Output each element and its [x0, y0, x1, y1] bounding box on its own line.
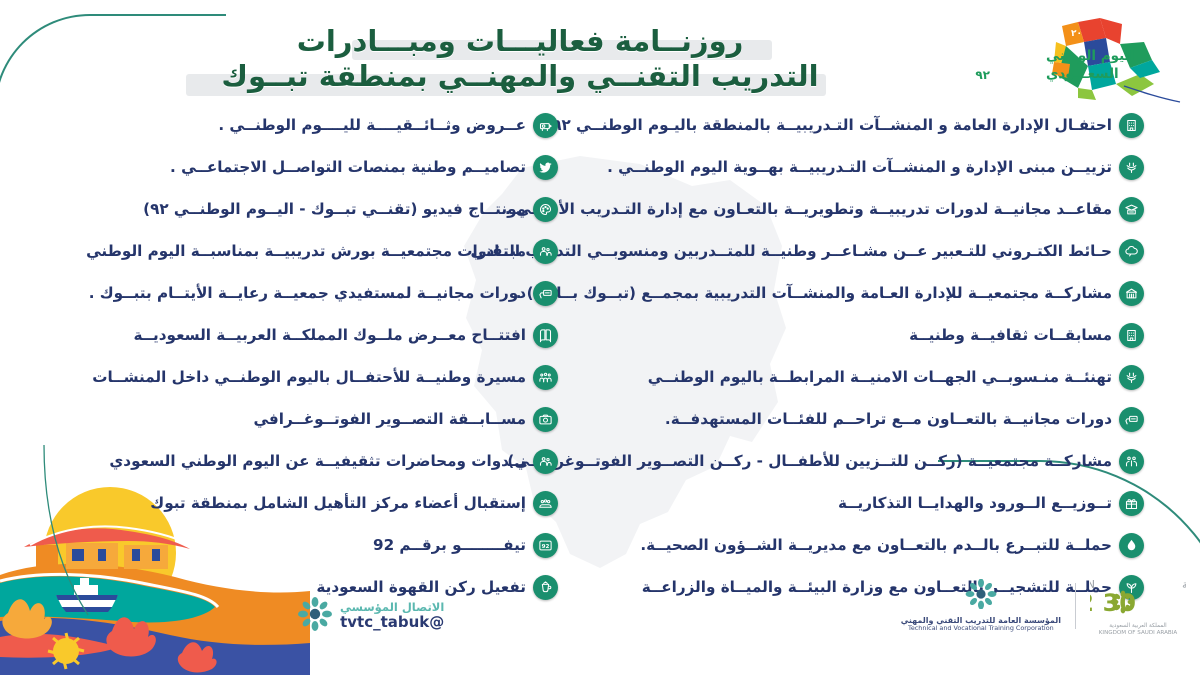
blood-drop-icon	[1119, 533, 1144, 558]
list-item-label: مشاركــة مجتمعيــة (ركــن للتــزيين للأط…	[507, 452, 1112, 471]
list-item: دورات مجانيــة لمستفيدي جمعيــة رعايــة …	[178, 276, 558, 310]
list-item-label: افتتــاح معــرض ملــوك المملكــة العربيـ…	[133, 326, 526, 345]
list-item: حملــة للتبــرع بالــدم بالتعــاون مع مد…	[624, 528, 1144, 562]
list-item: تصاميــم وطنية بمنصات التواصــل الاجتماع…	[178, 150, 558, 184]
crowd-icon	[533, 365, 558, 390]
list-item-label: نــدوات ومحاضرات تثقيفيــة عن اليوم الوط…	[109, 452, 526, 471]
list-item: مسيرة وطنيــة للأحتفــال باليوم الوطنــي…	[178, 360, 558, 394]
infographic-poster: روزنــامة فعاليـــات ومبـــادرات التدريب…	[0, 0, 1200, 675]
list-item-label: حملــة للتبــرع بالــدم بالتعــاون مع مد…	[640, 536, 1112, 555]
list-item: مســابــقة التصــوير الفوتــوغــرافي	[178, 402, 558, 436]
list-item-label: مسابقــات ثقافيــة وطنيــة	[909, 326, 1112, 345]
list-item: حـائط الكتـروني للتـعبير عــن مشـاعــر و…	[624, 234, 1144, 268]
palette-icon	[533, 197, 558, 222]
page-title: روزنــامة فعاليـــات ومبـــادرات التدريب…	[150, 24, 890, 94]
building-icon	[1119, 323, 1144, 348]
tvtc-star-icon	[961, 579, 1001, 613]
corporate-communication-handle[interactable]: الاتصال المؤسسي @tvtc_tabuk	[298, 597, 444, 635]
list-item: نــدوات ومحاضرات تثقيفيــة عن اليوم الوط…	[178, 444, 558, 478]
list-item-label: تزييــن مبنى الإدارة و المنشــآت التـدري…	[607, 158, 1112, 177]
tvtc-english-name: Technical and Vocational Training Corpor…	[901, 625, 1061, 633]
ticket-hand-icon	[1119, 407, 1144, 432]
list-item-label: مقاعــد مجانيــة لدورات تدريبيــة وتطوير…	[505, 200, 1112, 219]
svg-text:٢٠: ٢٠	[1071, 29, 1082, 39]
svg-text:رؤيـــة: رؤيـــة	[1182, 578, 1186, 591]
list-item: مبــادرات مجتمعيــة بورش تدريبيــة بمناس…	[178, 234, 558, 268]
list-item-label: تفعيل ركن القهوة السعودية	[316, 578, 526, 597]
list-item-label: مســابــقة التصــوير الفوتــوغــرافي	[253, 410, 526, 429]
title-line-2: التدريب التقنــي والمهنــي بمنطقة تبــوك	[150, 58, 890, 94]
svg-text:اليوم الوطني: اليوم الوطني	[1046, 48, 1134, 64]
list-item: تهنئــة منـسوبــي الجهــات الامنيــة الم…	[624, 360, 1144, 394]
building-icon	[1119, 113, 1144, 138]
list-item-label: تــوزيــع الــورود والهدايــا التذكاريــ…	[838, 494, 1112, 513]
saudi-emblem-icon	[1119, 155, 1144, 180]
group-icon	[533, 239, 558, 264]
list-item-label: تهنئــة منـسوبــي الجهــات الامنيــة الم…	[648, 368, 1112, 387]
title-line-1: روزنــامة فعاليـــات ومبـــادرات	[150, 24, 890, 58]
list-item-label: عــروض وثــائــقيــــة لليــــوم الوطنــ…	[218, 116, 526, 135]
classroom-icon	[1119, 197, 1144, 222]
coffee-pot-icon	[533, 575, 558, 600]
footer-divider	[1075, 583, 1076, 629]
svg-text:2: 2	[1090, 589, 1094, 617]
list-item: عــروض وثــائــقيــــة لليــــوم الوطنــ…	[178, 108, 558, 142]
number-92-icon: 92	[533, 533, 558, 558]
events-column-right: احتفـال الإدارة العامة و المنشــآت التـد…	[624, 108, 1144, 612]
list-item: 92تيفــــــــو برقــم 92	[178, 528, 558, 562]
list-item: تــوزيــع الــورود والهدايــا التذكاريــ…	[624, 486, 1144, 520]
speech-cloud-icon	[1119, 239, 1144, 264]
events-lists: احتفـال الإدارة العامة و المنشــآت التـد…	[0, 108, 1200, 558]
footer-logos: المؤسسة العامة للتدريب التقني والمهني Te…	[901, 575, 1186, 637]
list-item-label: مسيرة وطنيــة للأحتفــال باليوم الوطنــي…	[92, 368, 526, 387]
people-icon	[533, 491, 558, 516]
events-column-left: عــروض وثــائــقيــــة لليــــوم الوطنــ…	[178, 108, 558, 612]
list-item: مشاركــة مجتمعيــة (ركــن للتــزيين للأط…	[624, 444, 1144, 478]
list-item: احتفـال الإدارة العامة و المنشــآت التـد…	[624, 108, 1144, 142]
list-item: تزييــن مبنى الإدارة و المنشــآت التـدري…	[624, 150, 1144, 184]
camera-icon	[533, 407, 558, 432]
list-item-label: مونتــاج فيديو (تقنــي تبــوك - اليــوم …	[143, 200, 526, 219]
list-item-label: مبــادرات مجتمعيــة بورش تدريبيــة بمناس…	[86, 242, 526, 261]
ticket-hand-icon	[533, 281, 558, 306]
list-item: مشاركــة مجتمعيــة للإدارة العـامة والمن…	[624, 276, 1144, 310]
list-item: مقاعــد مجانيــة لدورات تدريبيــة وتطوير…	[624, 192, 1144, 226]
list-item: مسابقــات ثقافيــة وطنيــة	[624, 318, 1144, 352]
community-booth-icon	[1119, 449, 1144, 474]
book-icon	[533, 323, 558, 348]
list-item: افتتــاح معــرض ملــوك المملكــة العربيـ…	[178, 318, 558, 352]
list-item-label: احتفـال الإدارة العامة و المنشــآت التـد…	[541, 116, 1112, 135]
gift-icon	[1119, 491, 1144, 516]
list-item-label: حـائط الكتـروني للتـعبير عــن مشـاعــر و…	[470, 242, 1112, 261]
twitter-bird-icon	[533, 155, 558, 180]
list-item-label: إستقبال أعضاء مركز التأهيل الشامل بمنطقة…	[150, 494, 526, 513]
list-item: إستقبال أعضاء مركز التأهيل الشامل بمنطقة…	[178, 486, 558, 520]
projector-icon	[533, 113, 558, 138]
list-item: دورات مجانيــة بالتعــاون مــع تراحــم ل…	[624, 402, 1144, 436]
saudi-national-day-92-logo: ٢٠ اليوم الوطني السعـــودي ٩٢	[974, 12, 1186, 104]
saudi-emblem-icon	[1119, 365, 1144, 390]
list-item-label: دورات مجانيــة بالتعــاون مــع تراحــم ل…	[665, 410, 1112, 429]
vision-arabic-sub: المملكة العربية السعودية	[1109, 623, 1166, 629]
svg-text:30: 30	[1103, 589, 1136, 617]
social-arabic-label: الاتصال المؤسسي	[340, 601, 444, 614]
social-handle: @tvtc_tabuk	[340, 614, 444, 631]
list-item-label: مشاركــة مجتمعيــة للإدارة العـامة والمن…	[516, 284, 1112, 303]
list-item-label: دورات مجانيــة لمستفيدي جمعيــة رعايــة …	[89, 284, 526, 303]
list-item: مونتــاج فيديو (تقنــي تبــوك - اليــوم …	[178, 192, 558, 226]
svg-text:92: 92	[542, 544, 550, 550]
list-item-label: تصاميــم وطنية بمنصات التواصــل الاجتماع…	[170, 158, 526, 177]
vision-english-sub: KINGDOM OF SAUDI ARABIA	[1099, 630, 1178, 636]
list-item-label: تيفــــــــو برقــم 92	[373, 536, 526, 555]
tvtc-star-icon	[298, 597, 332, 635]
svg-text:٩٢: ٩٢	[975, 68, 990, 82]
group-icon	[533, 449, 558, 474]
svg-text:السعـــودي: السعـــودي	[1046, 66, 1119, 82]
mall-icon	[1119, 281, 1144, 306]
tvtc-logo: المؤسسة العامة للتدريب التقني والمهني Te…	[901, 579, 1061, 633]
vision-2030-logo: VISION رؤيـــة 2 30	[1090, 575, 1186, 637]
